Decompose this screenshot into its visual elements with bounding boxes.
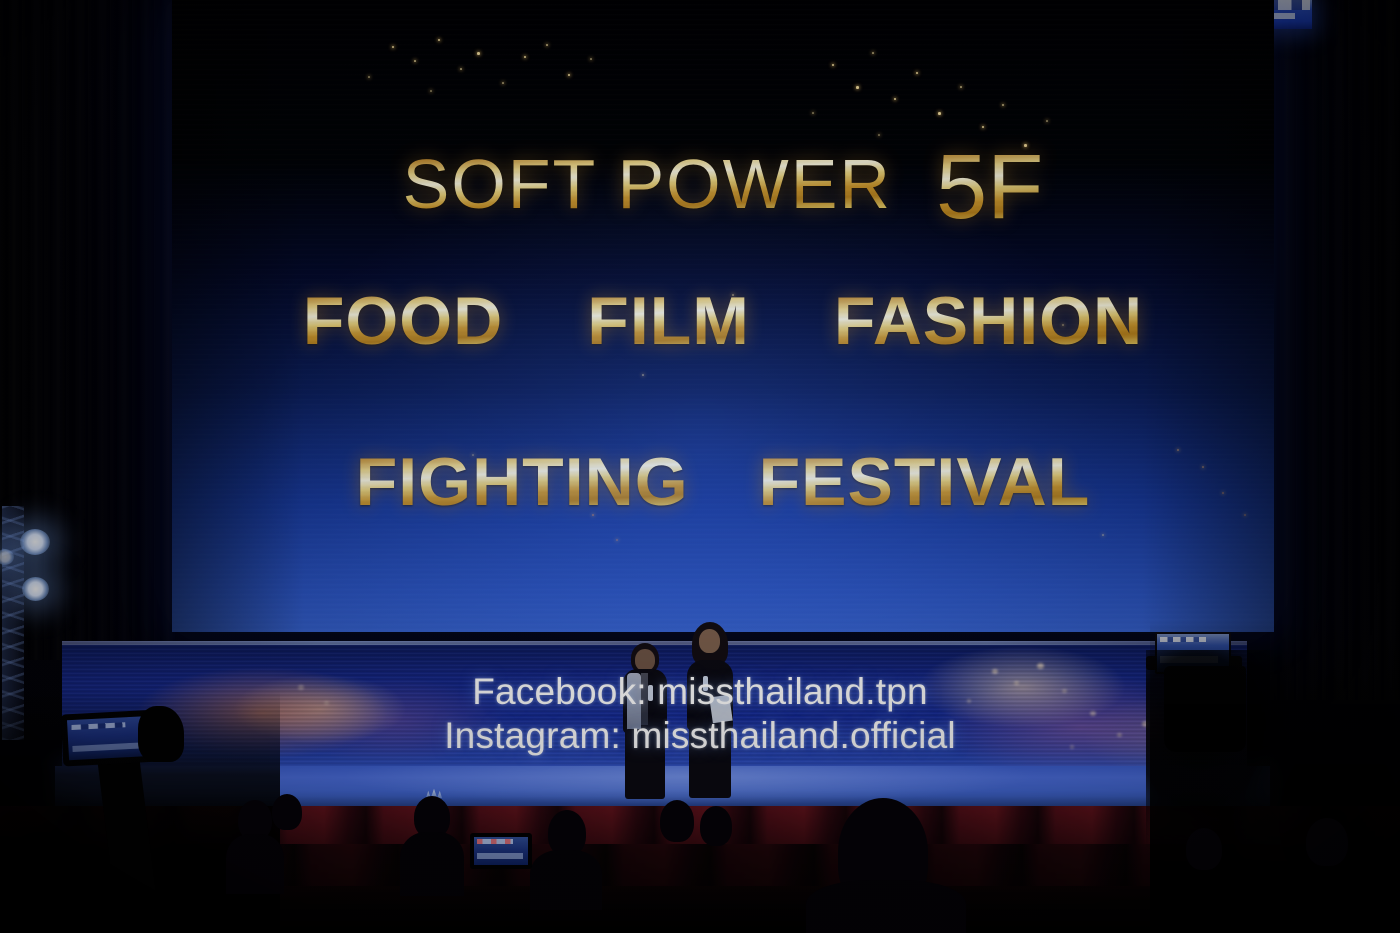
projection-screen: SOFT POWER 5F FOOD FILM FASHION FIGHTING…	[172, 0, 1274, 632]
foreground-silhouette-right	[1150, 620, 1400, 933]
audience-body	[226, 834, 284, 894]
audience-head	[660, 800, 694, 842]
phone-ui-top	[71, 722, 125, 730]
stage-light-lower	[22, 577, 49, 601]
raised-hand	[138, 706, 184, 762]
phone-ui-bottom	[477, 853, 523, 859]
keyword-film: FILM	[587, 282, 750, 360]
keyword-food: FOOD	[303, 282, 503, 360]
slide-keywords-row-1: FOOD FILM FASHION	[172, 282, 1274, 360]
screen-scanlines	[172, 0, 1274, 632]
audience-head	[1306, 818, 1348, 866]
backdrop-curtain-left	[0, 0, 175, 660]
backdrop-curtain-right	[1270, 0, 1400, 700]
audience-phone-center	[470, 833, 532, 869]
audience-head	[700, 806, 732, 846]
keyword-fashion: FASHION	[834, 282, 1143, 360]
audience-phone-center-screen	[474, 837, 528, 865]
slide-headline-main: SOFT POWER	[403, 144, 892, 224]
slide-text-layer: SOFT POWER 5F FOOD FILM FASHION FIGHTING…	[172, 0, 1274, 632]
audience-head	[272, 794, 302, 830]
keyword-fighting: FIGHTING	[356, 443, 689, 521]
screen-vignette	[172, 0, 1274, 632]
led-wall-top-edge	[62, 641, 1247, 645]
stage-photo-screenshot: SOFT POWER 5F FOOD FILM FASHION FIGHTING…	[0, 0, 1400, 933]
audience-head	[1186, 828, 1222, 870]
slide-headline-row: SOFT POWER 5F	[172, 125, 1274, 230]
audience-body	[400, 832, 464, 896]
slide-headline-suffix: 5F	[936, 135, 1043, 240]
slide-keywords-row-2: FIGHTING FESTIVAL	[172, 443, 1274, 521]
audience-body-foreground	[806, 880, 966, 933]
audience-body	[530, 850, 602, 910]
gold-particle-sparkles	[172, 0, 1274, 632]
audience-phone-left-screen	[67, 716, 147, 760]
stage-light-upper	[20, 529, 50, 555]
phone-ui-bottom	[72, 743, 138, 752]
phone-ui-top	[477, 839, 513, 844]
keyword-festival: FESTIVAL	[759, 443, 1091, 521]
